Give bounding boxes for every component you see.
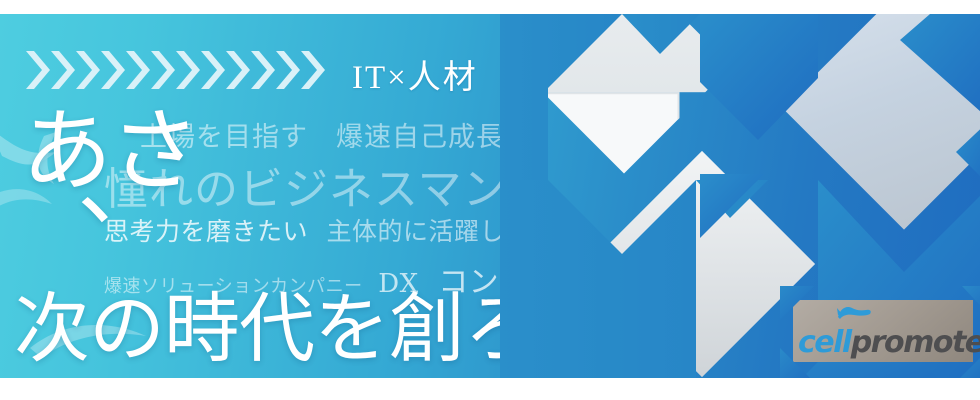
photo-man-phone-scene bbox=[783, 14, 980, 230]
headline-horizontal: 次の時代を創ろう。 bbox=[14, 291, 684, 367]
chevron-right-icon bbox=[274, 49, 300, 91]
chevron-right-icon bbox=[174, 49, 200, 91]
photo-meeting bbox=[517, 14, 732, 173]
kangaroo-icon bbox=[834, 302, 874, 322]
chevron-right-icon bbox=[199, 49, 225, 91]
chevron-right-icon bbox=[24, 49, 50, 91]
logo-text-promote: promote bbox=[851, 328, 980, 358]
chevron-row bbox=[24, 48, 324, 92]
headline-vertical: さあ、 bbox=[14, 102, 191, 302]
chevron-right-icon bbox=[224, 49, 250, 91]
company-logo: cell promote , inc. bbox=[798, 306, 970, 358]
ghost-line-3-part2: 主体的に活躍したい bbox=[316, 217, 556, 246]
chevron-right-icon bbox=[74, 49, 100, 91]
banner-kicker: IT×人材 bbox=[352, 50, 478, 98]
banner-stage: IT×人材 上場を目指す 爆速自己成長 憧れのビジネスマン 思考力を磨きたい 主… bbox=[0, 0, 980, 400]
photo-man-phone bbox=[782, 14, 980, 230]
chevron-right-icon bbox=[124, 49, 150, 91]
chevron-right-icon bbox=[249, 49, 275, 91]
hero-banner: IT×人材 上場を目指す 爆速自己成長 憧れのビジネスマン 思考力を磨きたい 主… bbox=[0, 14, 980, 378]
logo-text-cell: cell bbox=[798, 328, 851, 358]
chevron-right-icon bbox=[99, 49, 125, 91]
chevron-right-icon bbox=[149, 49, 175, 91]
photo-meeting-scene bbox=[517, 14, 732, 173]
chevron-right-icon bbox=[299, 49, 325, 91]
chevron-right-icon bbox=[49, 49, 75, 91]
